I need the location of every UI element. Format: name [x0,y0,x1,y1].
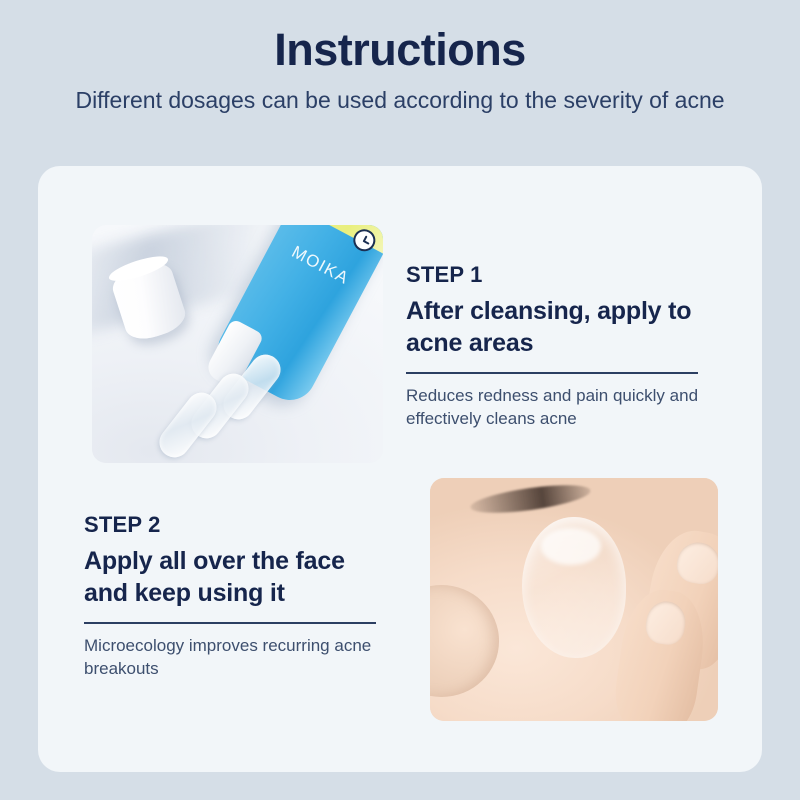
step-2-body: Microecology improves recurring acne bre… [84,624,384,680]
gel-swirl [168,356,314,451]
fingernail [644,599,688,646]
step-2-text-block: STEP 2 Apply all over the face and keep … [84,512,384,680]
step-1-product-photo: 24 MOIKA [92,225,383,463]
tube-brand-label: MOIKA [275,235,366,296]
step-1-body: Reduces redness and pain quickly and eff… [406,374,706,430]
fingernail [674,540,718,587]
step-1-label: STEP 1 [406,262,706,288]
instructions-infographic: Instructions Different dosages can be us… [0,0,800,800]
applied-gel-patch [522,517,626,658]
header: Instructions Different dosages can be us… [0,0,800,115]
step-1-text-block: STEP 1 After cleansing, apply to acne ar… [406,262,706,430]
page-subtitle: Different dosages can be used according … [0,73,800,115]
step-1-heading: After cleansing, apply to acne areas [406,288,706,359]
page-title: Instructions [0,0,800,73]
step-2-label: STEP 2 [84,512,384,538]
step-2-face-photo [430,478,718,721]
step-2-heading: Apply all over the face and keep using i… [84,538,384,609]
